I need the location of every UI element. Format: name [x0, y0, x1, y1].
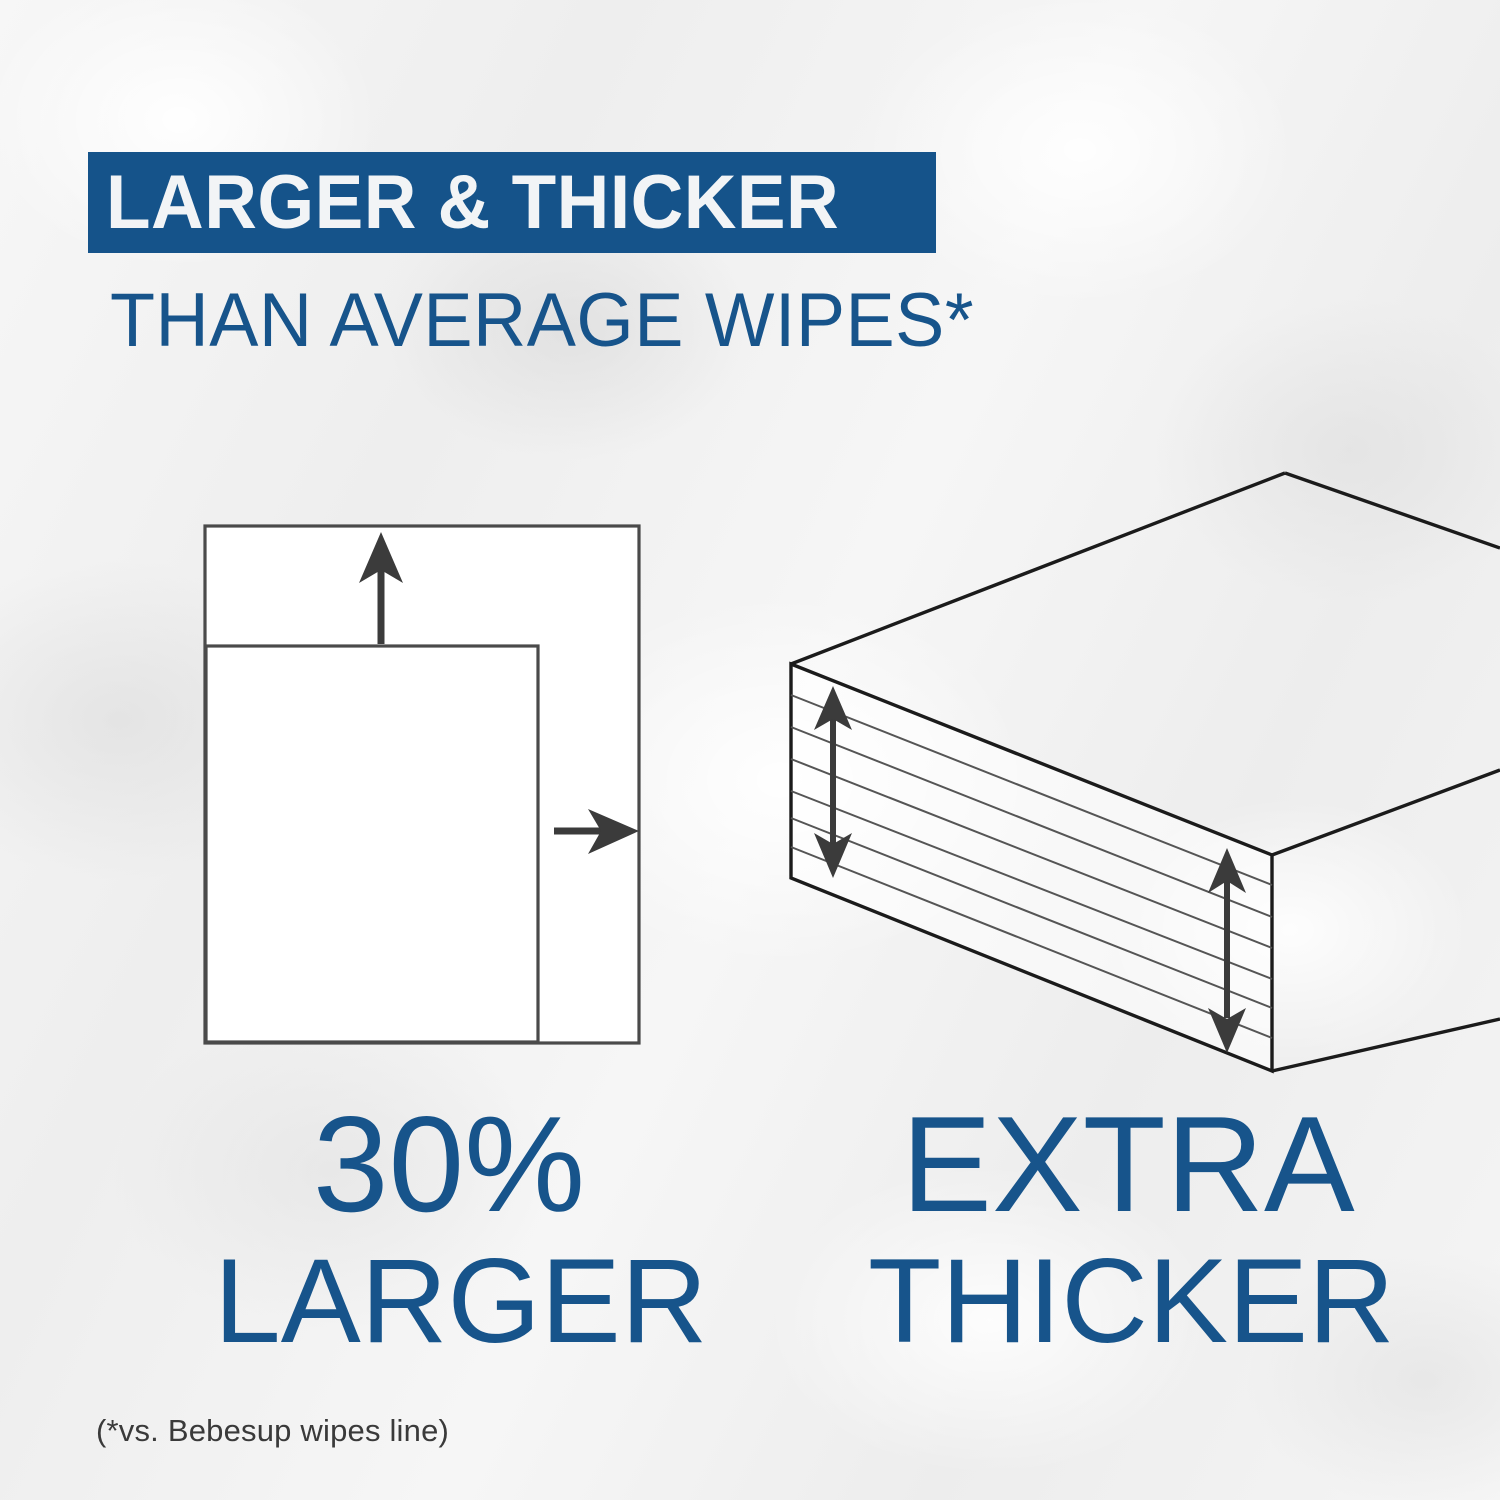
- stat-thicker-value: EXTRA: [868, 1098, 1388, 1231]
- stack-sheet-line: [791, 791, 1272, 979]
- inner-wipe-rectangle: [206, 646, 538, 1042]
- width-growth-arrow-icon: [554, 809, 639, 854]
- stack-top-back-edge: [791, 473, 1285, 664]
- stack-sheet-line: [791, 727, 1272, 917]
- stat-larger: 30% LARGER: [214, 1098, 684, 1361]
- stat-thicker: EXTRA THICKER: [868, 1098, 1388, 1361]
- height-growth-arrow-icon: [359, 532, 403, 644]
- headline-text: LARGER & THICKER: [106, 165, 839, 241]
- subtitle-text: THAN AVERAGE WIPES*: [110, 283, 974, 359]
- stat-thicker-label: THICKER: [868, 1243, 1388, 1361]
- stack-right-face: [1272, 772, 1500, 1071]
- stack-sheet-line: [791, 818, 1272, 1008]
- stack-right-top-edge: [1272, 770, 1500, 855]
- stack-thickness-arrow-right-icon: [1208, 848, 1246, 1053]
- stack-sheet-line: [791, 695, 1272, 885]
- infographic-canvas: LARGER & THICKER THAN AVERAGE WIPES*: [0, 0, 1500, 1500]
- stack-front-face: [791, 664, 1272, 1071]
- stack-top-face: [791, 474, 1500, 855]
- stack-sheet-lines: [791, 695, 1272, 1038]
- outer-wipe-rectangle: [205, 526, 639, 1043]
- stack-right-bottom-edge: [1272, 1019, 1500, 1071]
- stat-larger-label: LARGER: [214, 1243, 684, 1361]
- stack-sheet-line: [791, 759, 1272, 948]
- footnote-text: (*vs. Bebesup wipes line): [96, 1413, 449, 1449]
- headline-banner: LARGER & THICKER: [88, 152, 936, 253]
- stack-top-right-edge: [1285, 473, 1500, 548]
- stack-sheet-line: [791, 847, 1272, 1038]
- stat-larger-value: 30%: [214, 1098, 684, 1231]
- stack-thickness-arrow-left-icon: [814, 686, 852, 878]
